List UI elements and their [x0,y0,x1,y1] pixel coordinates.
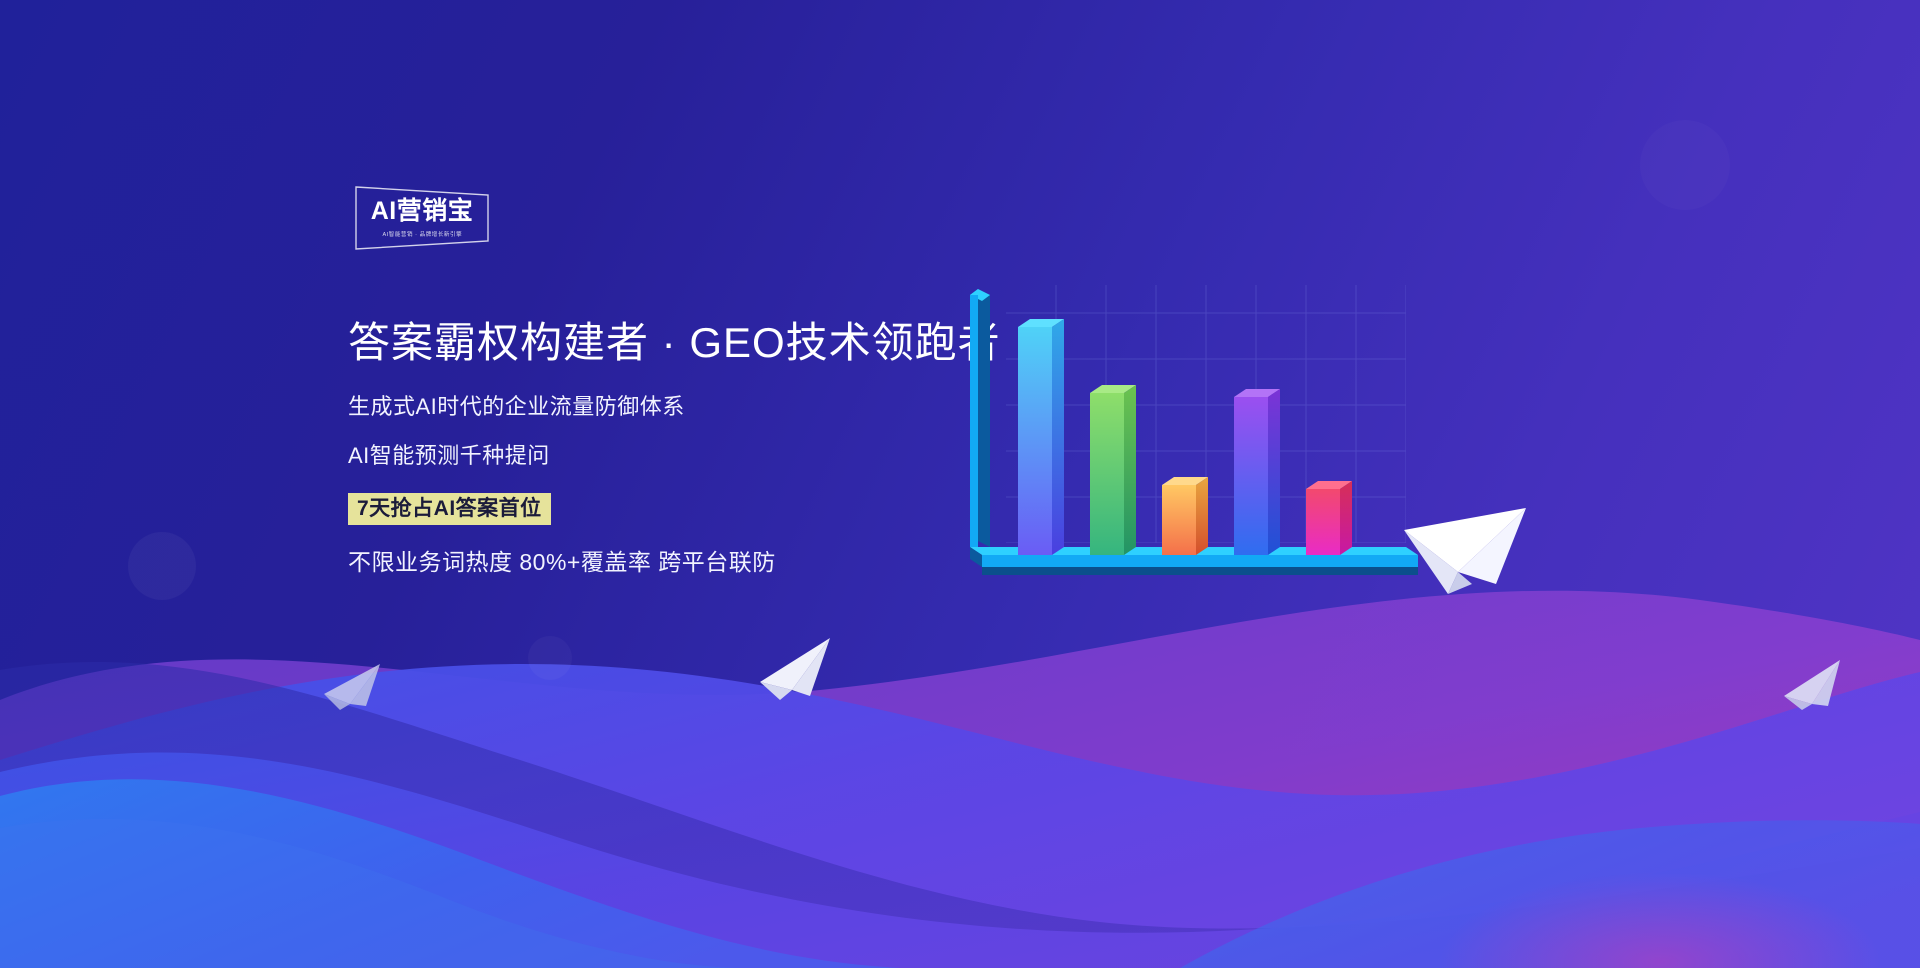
bar-3 [1162,477,1208,555]
bar-chart [960,285,1460,685]
hero-copy: 答案霸权构建者 · GEO技术领跑者 生成式AI时代的企业流量防御体系 AI智能… [348,318,1048,574]
hero-subtitle-1: 生成式AI时代的企业流量防御体系 [348,396,1048,418]
bar-2 [1090,385,1136,555]
logo-title: AI营销宝 [371,199,474,224]
paper-plane-icon [758,636,834,707]
logo-tagline: AI智能营销 · 品牌增长新引擎 [382,229,462,237]
decor-circle [528,636,572,680]
bar-5 [1306,481,1352,555]
paper-plane-icon [1782,656,1846,717]
hero-subtitle-2: AI智能预测千种提问 [348,445,1048,467]
hero-subtitle-3: 不限业务词热度 80%+覆盖率 跨平台联防 [348,551,1048,574]
hero-banner: AI营销宝 AI智能营销 · 品牌增长新引擎 答案霸权构建者 · GEO技术领跑… [0,0,1920,968]
chart-bars [1018,319,1352,555]
page-title: 答案霸权构建者 · GEO技术领跑者 [348,318,1048,368]
brand-logo[interactable]: AI营销宝 AI智能营销 · 品牌增长新引擎 [352,182,492,254]
highlight-row: 7天抢占AI答案首位 [348,493,1048,525]
decor-circle [128,532,196,600]
paper-plane-icon [322,660,384,717]
bar-4 [1234,389,1280,555]
bar-1 [1018,319,1064,555]
chart-y-axis [970,289,990,547]
highlight-badge: 7天抢占AI答案首位 [348,493,551,525]
paper-plane-icon [1400,498,1530,613]
decor-circle [1640,120,1730,210]
